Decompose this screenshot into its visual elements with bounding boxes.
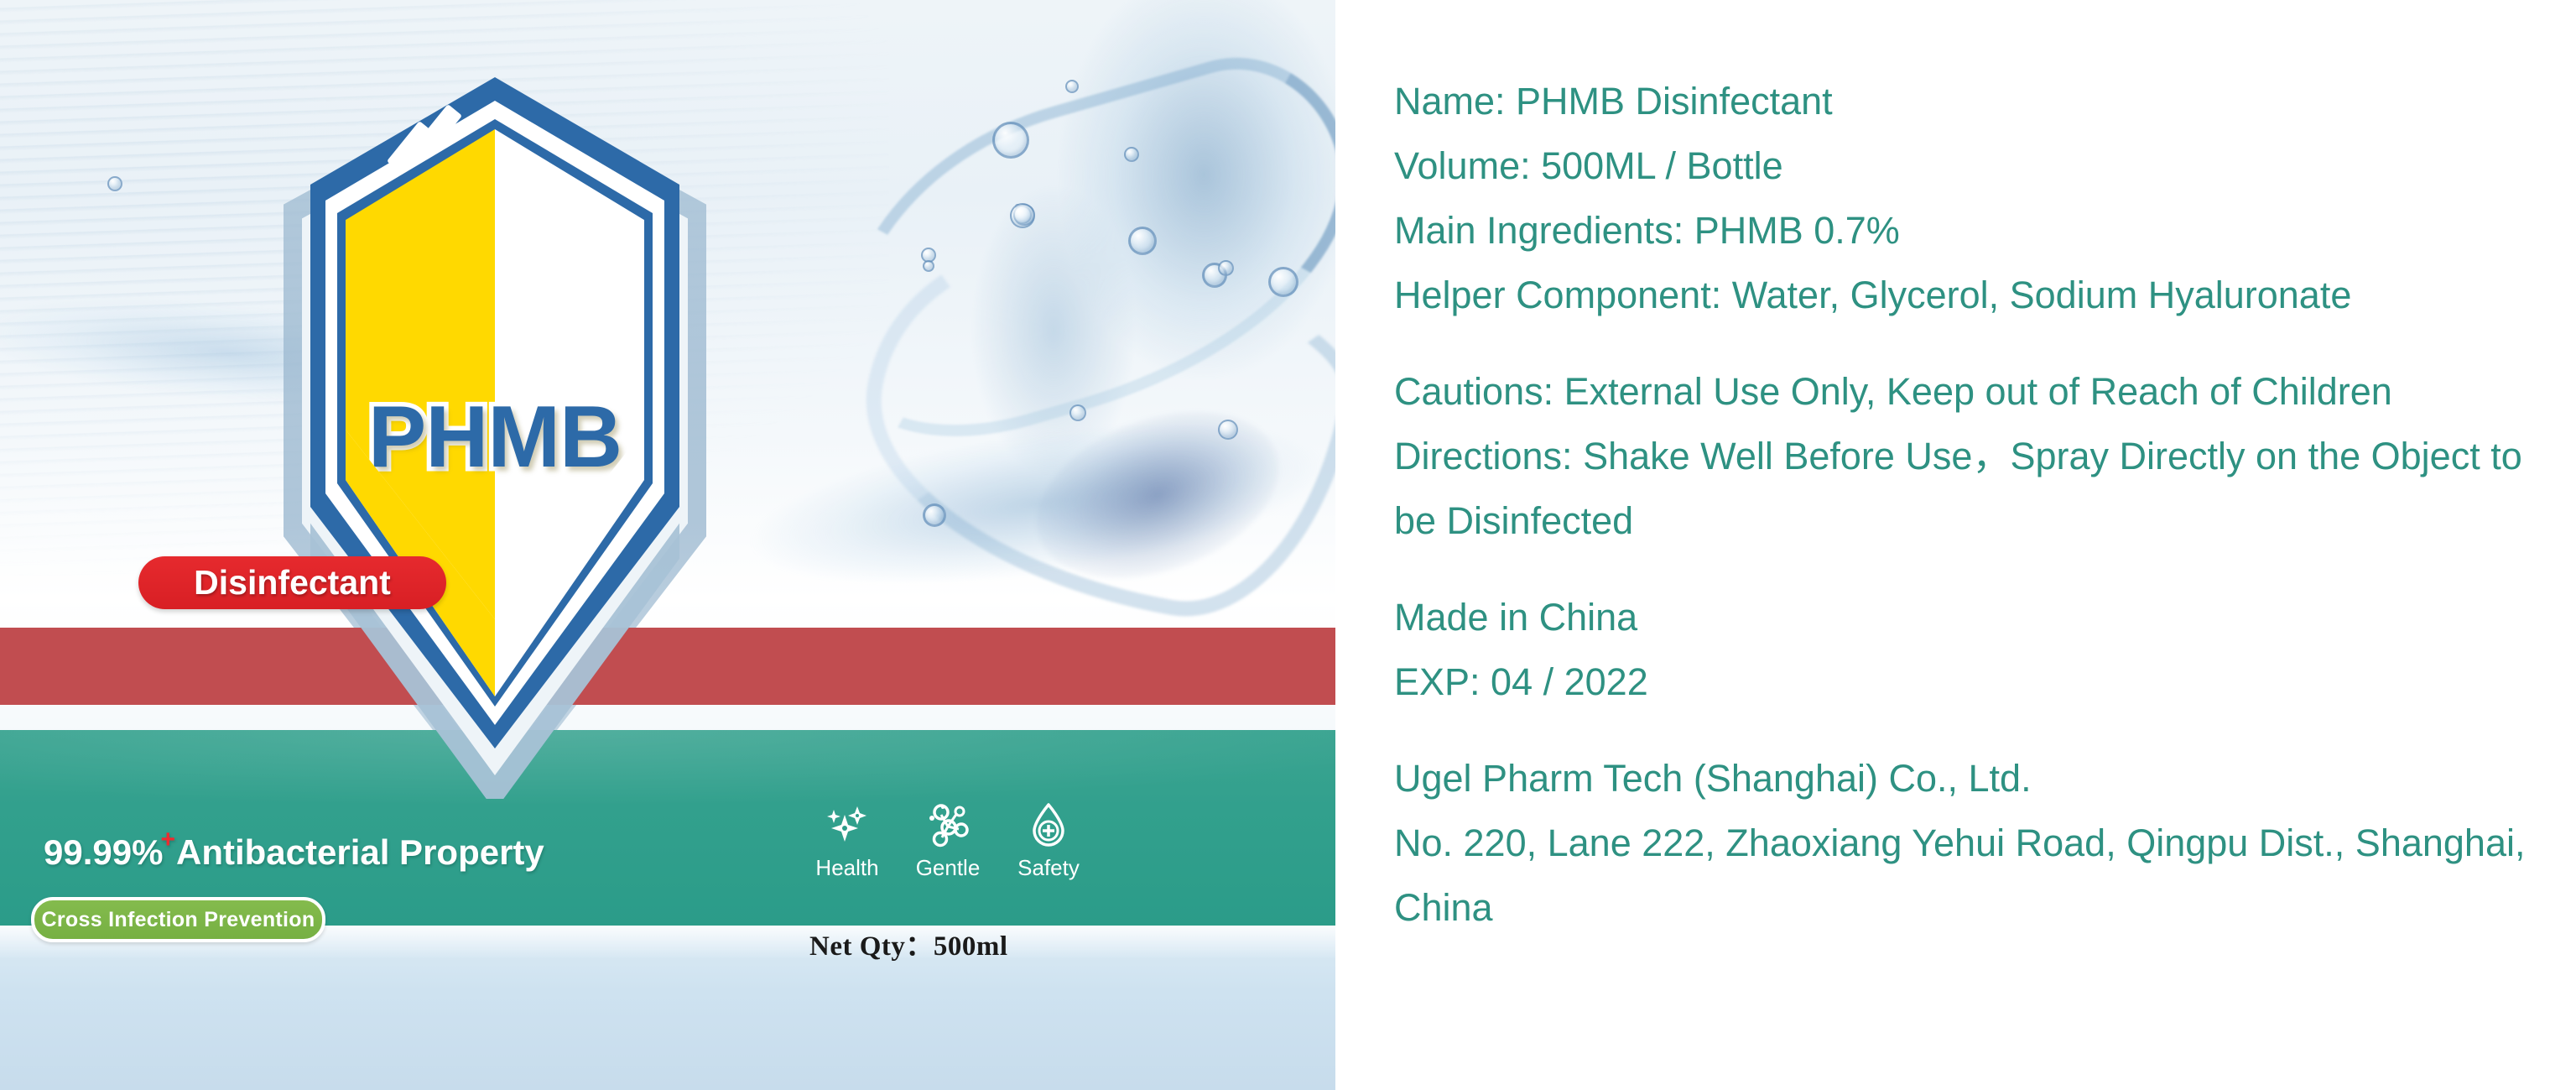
feature-safety: Safety	[998, 801, 1099, 881]
net-quantity-text: Net Qty：500ml	[809, 923, 1008, 963]
spec-directions: Directions: Shake Well Before Use，Spray …	[1394, 424, 2552, 553]
spec-exp: EXP: 04 / 2022	[1394, 649, 2552, 714]
spec-main-ingredients: Main Ingredients: PHMB 0.7%	[1394, 198, 2552, 263]
antibacterial-superscript: +	[160, 826, 175, 853]
sparkles-icon	[825, 801, 870, 848]
spec-volume: Volume: 500ML / Bottle	[1394, 133, 2552, 198]
bubble-icon	[1268, 267, 1298, 297]
bubble-icon	[923, 503, 946, 527]
bubble-icon	[1065, 80, 1079, 93]
bubble-icon	[1010, 203, 1035, 228]
feature-gentle-label: Gentle	[916, 855, 981, 881]
feature-health-label: Health	[815, 855, 878, 881]
phmb-brand-text: PHMB	[310, 388, 679, 488]
spec-cautions: Cautions: External Use Only, Keep out of…	[1394, 359, 2552, 424]
cross-infection-prevention-label: Cross Infection Prevention	[42, 908, 315, 932]
spec-name: Name: PHMB Disinfectant	[1394, 69, 2552, 133]
bubble-icon	[923, 260, 934, 272]
spec-spacer	[1394, 714, 2552, 746]
bubble-icon	[107, 176, 122, 191]
red-accent-band	[0, 628, 1335, 705]
antibacterial-text: Antibacterial Property	[176, 832, 544, 872]
antibacterial-percent: 99.99%	[44, 832, 163, 872]
spec-helper-component: Helper Component: Water, Glycerol, Sodiu…	[1394, 263, 2552, 327]
disinfectant-banner-label: Disinfectant	[194, 563, 391, 602]
feature-icons-row: Health Gentle	[797, 801, 1099, 881]
bubble-icon	[1218, 260, 1234, 276]
bubble-icon	[1128, 227, 1157, 255]
spec-company-name: Ugel Pharm Tech (Shanghai) Co., Ltd.	[1394, 746, 2552, 811]
water-drop-plus-icon	[1029, 801, 1068, 848]
spec-text-block: Name: PHMB Disinfectant Volume: 500ML / …	[1394, 69, 2552, 940]
antibacterial-claim: 99.99%+Antibacterial Property	[44, 826, 544, 873]
feature-gentle: Gentle	[898, 801, 998, 881]
disinfectant-banner: Disinfectant	[138, 556, 446, 609]
spec-made-in: Made in China	[1394, 585, 2552, 649]
product-spec-panel: Name: PHMB Disinfectant Volume: 500ML / …	[1335, 0, 2576, 1090]
spec-spacer	[1394, 553, 2552, 585]
feature-health: Health	[797, 801, 898, 881]
molecule-icon	[924, 801, 971, 848]
spec-company-address: No. 220, Lane 222, Zhaoxiang Yehui Road,…	[1394, 811, 2552, 940]
bubble-icon	[1124, 147, 1139, 162]
bubble-icon	[992, 122, 1029, 159]
water-background-bottom	[0, 926, 1335, 1090]
product-label-artwork: PHMB Disinfectant 99.99%+Antibacterial P…	[0, 0, 1335, 1090]
spec-spacer	[1394, 327, 2552, 359]
cross-infection-prevention-pill: Cross Infection Prevention	[31, 897, 325, 942]
feature-safety-label: Safety	[1017, 855, 1080, 881]
bubble-icon	[1069, 404, 1086, 421]
bubble-icon	[1218, 420, 1238, 440]
